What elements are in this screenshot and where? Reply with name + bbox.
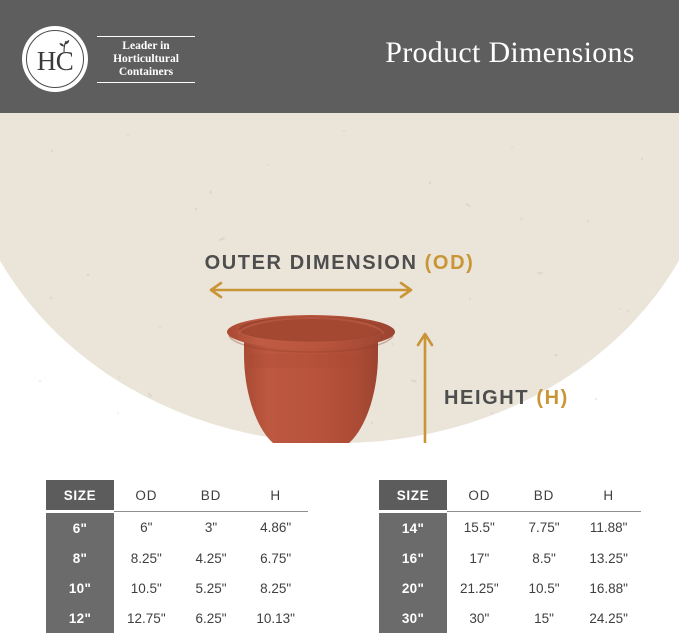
cell-size: 30" [379, 603, 447, 633]
table-row: 14" 15.5" 7.75" 11.88" [379, 512, 641, 544]
table-row: 8" 8.25" 4.25" 6.75" [46, 543, 308, 573]
tagline-line-1: Leader in [97, 40, 195, 53]
outer-dimension-abbr: (OD) [425, 252, 475, 274]
outer-dimension-text: OUTER DIMENSION [205, 252, 425, 274]
cell-h: 16.88" [576, 573, 641, 603]
column-header-size: SIZE [379, 480, 447, 512]
cell-od: 6" [114, 512, 179, 544]
tagline-line-3: Containers [97, 66, 195, 79]
height-label: HEIGHT (H) [444, 387, 569, 410]
tagline-line-2: Horticultural [97, 53, 195, 66]
table-header-row: SIZE OD BD H [46, 480, 308, 512]
cell-size: 16" [379, 543, 447, 573]
cell-size: 6" [46, 512, 114, 544]
outer-dimension-arrow [203, 281, 419, 299]
table-row: 20" 21.25" 10.5" 16.88" [379, 573, 641, 603]
table-row: 10" 10.5" 5.25" 8.25" [46, 573, 308, 603]
brand-tagline: Leader in Horticultural Containers [97, 36, 195, 83]
table-row: 30" 30" 15" 24.25" [379, 603, 641, 633]
height-arrow [416, 327, 434, 443]
cell-h: 10.13" [243, 603, 308, 633]
cell-size: 14" [379, 512, 447, 544]
cell-size: 20" [379, 573, 447, 603]
cell-h: 4.86" [243, 512, 308, 544]
plant-pot-illustration [225, 310, 397, 443]
cell-od: 12.75" [114, 603, 179, 633]
spec-table-small-sizes: SIZE OD BD H 6" 6" 3" 4.86" 8" 8.25" 4.2… [46, 480, 308, 633]
brand-logo-lockup: HC Leader in Horticultural Containers [22, 24, 202, 94]
cell-bd: 4.25" [179, 543, 244, 573]
cell-bd: 8.5" [512, 543, 577, 573]
cell-od: 15.5" [447, 512, 512, 544]
hc-logo-badge: HC [22, 26, 88, 92]
cell-bd: 3" [179, 512, 244, 544]
cell-od: 8.25" [114, 543, 179, 573]
hc-monogram: HC [22, 26, 88, 92]
cell-bd: 15" [512, 603, 577, 633]
cell-size: 8" [46, 543, 114, 573]
height-text: HEIGHT [444, 387, 536, 409]
column-header-od: OD [447, 480, 512, 512]
column-header-h: H [243, 480, 308, 512]
cell-h: 24.25" [576, 603, 641, 633]
header-bar: HC Leader in Horticultural Containers Pr… [0, 0, 679, 113]
column-header-bd: BD [179, 480, 244, 512]
cell-od: 17" [447, 543, 512, 573]
table-row: 6" 6" 3" 4.86" [46, 512, 308, 544]
table-row: 16" 17" 8.5" 13.25" [379, 543, 641, 573]
cell-size: 12" [46, 603, 114, 633]
table-header-row: SIZE OD BD H [379, 480, 641, 512]
cell-size: 10" [46, 573, 114, 603]
column-header-size: SIZE [46, 480, 114, 512]
cell-h: 8.25" [243, 573, 308, 603]
cell-od: 30" [447, 603, 512, 633]
cell-h: 13.25" [576, 543, 641, 573]
cell-bd: 10.5" [512, 573, 577, 603]
column-header-h: H [576, 480, 641, 512]
column-header-bd: BD [512, 480, 577, 512]
cell-od: 21.25" [447, 573, 512, 603]
table-row: 12" 12.75" 6.25" 10.13" [46, 603, 308, 633]
cell-bd: 6.25" [179, 603, 244, 633]
height-abbr: (H) [536, 387, 569, 409]
cell-od: 10.5" [114, 573, 179, 603]
spec-table: SIZE OD BD H 6" 6" 3" 4.86" 8" 8.25" 4.2… [46, 480, 308, 633]
cell-bd: 7.75" [512, 512, 577, 544]
cell-bd: 5.25" [179, 573, 244, 603]
cell-h: 6.75" [243, 543, 308, 573]
diagram-panel: OUTER DIMENSION (OD) BASE DIMENSION (BD)… [0, 113, 679, 443]
page-title: Product Dimensions [360, 36, 660, 70]
cell-h: 11.88" [576, 512, 641, 544]
spec-table: SIZE OD BD H 14" 15.5" 7.75" 11.88" 16" … [379, 480, 641, 633]
leaf-sprout-icon [53, 39, 75, 53]
spec-table-large-sizes: SIZE OD BD H 14" 15.5" 7.75" 11.88" 16" … [379, 480, 641, 633]
pot-shoulder-band [247, 354, 375, 368]
outer-dimension-label: OUTER DIMENSION (OD) [0, 252, 679, 275]
column-header-od: OD [114, 480, 179, 512]
